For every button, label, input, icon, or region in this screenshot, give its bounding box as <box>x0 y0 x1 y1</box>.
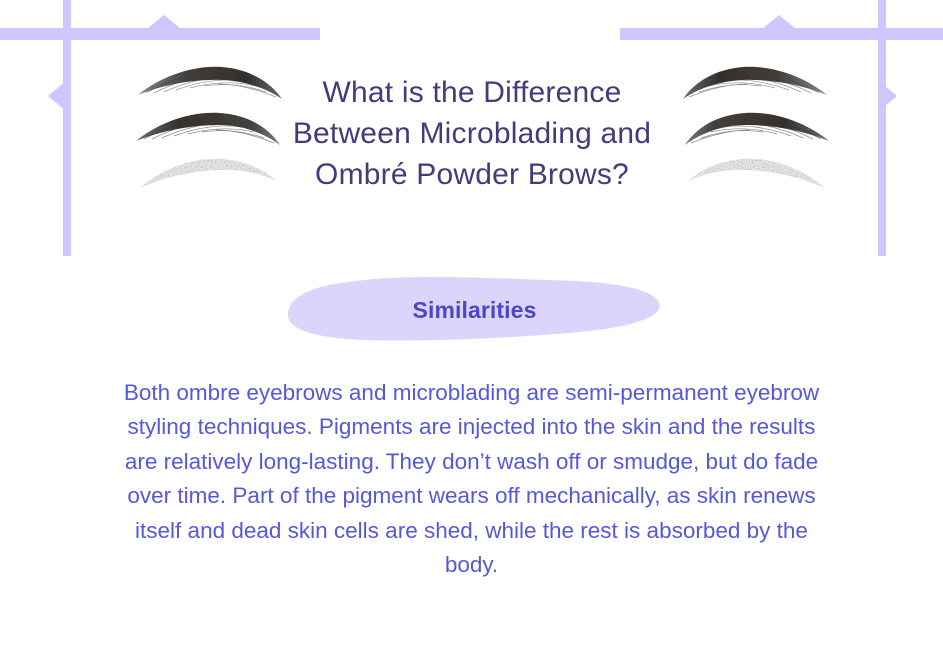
eyebrow-microblading-hair-strokes <box>683 67 827 99</box>
eyebrow-microblading-hair-strokes <box>138 67 282 99</box>
horizontal-rule-right <box>620 28 943 40</box>
triangle-up-left-icon <box>147 15 181 29</box>
eyebrow-samples-right <box>675 55 835 205</box>
vertical-rule-right <box>878 0 886 256</box>
body-paragraph: Both ombre eyebrows and microblading are… <box>120 376 823 582</box>
eyebrow-ombre-powder-brow <box>140 159 276 188</box>
eyebrow-microblading-dense-strokes <box>685 113 829 145</box>
eyebrow-samples-left <box>130 55 290 205</box>
triangle-left-icon <box>48 81 66 111</box>
page-title: What is the Difference Between Microblad… <box>272 72 672 195</box>
badge-label: Similarities <box>280 272 665 348</box>
vertical-rule-left <box>63 0 71 256</box>
triangle-right-icon <box>879 81 897 111</box>
similarities-badge: Similarities <box>280 272 665 348</box>
triangle-up-right-icon <box>762 15 796 29</box>
slide-canvas: What is the Difference Between Microblad… <box>0 0 943 650</box>
eyebrow-ombre-powder-brow <box>689 159 825 188</box>
horizontal-rule-left <box>0 28 320 40</box>
eyebrow-microblading-dense-strokes <box>136 113 280 145</box>
